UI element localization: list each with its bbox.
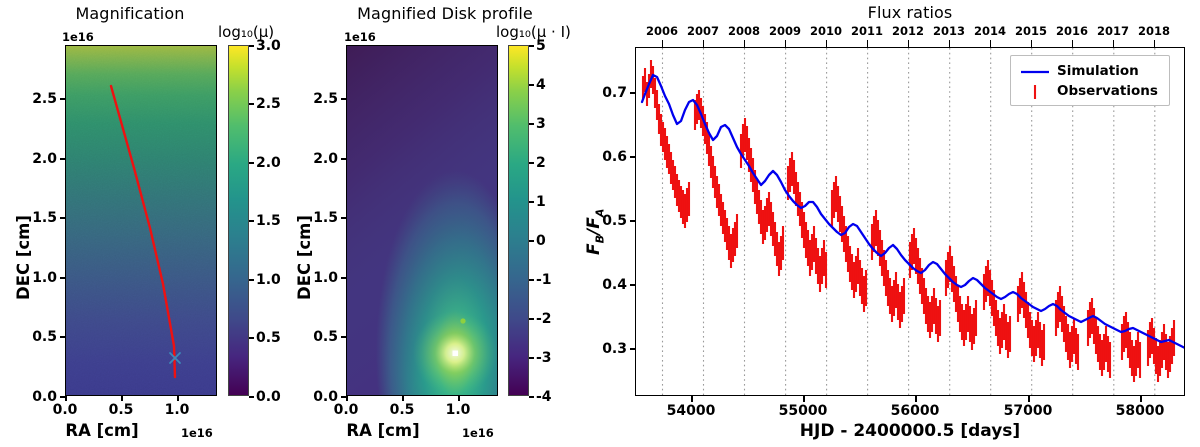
magnification-xlabel: RA [cm] [32,421,172,440]
flux-ratios-ylabel-wrap: FB/FA [584,255,630,277]
flux-xtick: 56000 [880,403,950,419]
cbar-tick: 0.0 [256,389,281,405]
disk-profile-colorbar [508,45,529,396]
disk-ytick: 2.5 [301,91,338,107]
cbar-tick: 0.5 [256,330,281,346]
flux-ytick: 0.3 [590,341,627,357]
magnification-colorbar [228,45,249,396]
magnification-x-offset: 1e16 [181,426,213,440]
flux-ytick: 0.4 [590,277,627,293]
flux-ytick: 0.6 [590,149,627,165]
top-tick-year: 2009 [765,24,805,38]
magnification-ytick: 0.5 [20,329,57,345]
flux-ratios-legend[interactable]: Simulation Observations [1010,55,1170,106]
top-tick-year: 2016 [1052,24,1092,38]
cbar-tick: -2 [536,311,552,327]
top-tick-year: 2014 [970,24,1010,38]
magnification-map [66,46,217,396]
cbar-tick: 2 [536,155,546,171]
disk-profile-xlabel: RA [cm] [313,421,453,440]
disk-profile-title: Magnified Disk profile [320,4,570,23]
disk-xtick: 1.0 [438,402,478,418]
magnification-title: Magnification [20,4,240,23]
cbar-tick: 1.0 [256,272,281,288]
figure-canvas: Magnification 1e16 DEC [cm] [0,0,1200,447]
flux-ytick: 0.7 [590,85,627,101]
top-tick-year: 2008 [724,24,764,38]
cbar-tick: 5 [536,38,546,54]
magnification-ytick: 2.5 [20,91,57,107]
disk-profile-ylabel: DEC [cm] [295,215,314,300]
cbar-tick: 3.0 [256,38,281,54]
legend-label-simulation: Simulation [1057,63,1139,79]
cbar-tick: 0 [536,233,546,249]
cbar-tick: 2.0 [256,155,281,171]
disk-source-spot [453,351,459,357]
top-tick-year: 2011 [847,24,887,38]
disk-profile-map [347,46,498,396]
magnification-xtick: 1.0 [157,402,197,418]
cbar-tick: 2.5 [256,96,281,112]
magnification-ytick: 1.0 [20,270,57,286]
panel-flux-ratios: Flux ratios FB/FA [570,0,1200,447]
flux-ratios-xlabel: HJD - 2400000.5 [days] [635,421,1185,441]
disk-xtick: 0.0 [326,402,366,418]
cbar-tick: -3 [536,350,552,366]
flux-xtick: 57000 [993,403,1063,419]
disk-secondary-spot [460,318,465,323]
magnification-ytick: 2.0 [20,151,57,167]
top-tick-year: 2015 [1011,24,1051,38]
top-tick-year: 2012 [888,24,928,38]
ylabel-slash: / [584,229,604,235]
cbar-tick: 1.5 [256,213,281,229]
magnification-y-offset: 1e16 [62,30,94,44]
disk-ytick: 0.5 [301,329,338,345]
disk-profile-colorbar-label: log₁₀(μ · I) [496,23,571,41]
flux-ratios-title: Flux ratios [635,3,1185,22]
legend-entry-observations[interactable]: Observations [1017,81,1167,101]
legend-entry-simulation[interactable]: Simulation [1017,61,1167,81]
disk-profile-x-offset: 1e16 [462,426,494,440]
ylabel-num-sub: B [593,235,606,243]
panel-magnification: Magnification 1e16 DEC [cm] [0,0,320,447]
cbar-tick: 1 [536,194,546,210]
magnification-plot-area [65,45,217,396]
top-tick-year: 2018 [1134,24,1174,38]
magnification-xtick: 0.5 [101,402,141,418]
magnification-ylabel: DEC [cm] [14,215,33,300]
cbar-tick: -1 [536,272,552,288]
magnification-xtick: 0.0 [45,402,85,418]
top-tick-year: 2010 [806,24,846,38]
disk-ytick: 1.5 [301,210,338,226]
disk-xtick: 0.5 [382,402,422,418]
disk-ytick: 2.0 [301,151,338,167]
legend-label-observations: Observations [1057,83,1158,99]
top-tick-year: 2017 [1093,24,1133,38]
top-tick-year: 2006 [642,24,682,38]
cbar-tick: -4 [536,389,552,405]
flux-ytick: 0.5 [590,213,627,229]
flux-xtick: 58000 [1105,403,1175,419]
top-tick-year: 2013 [929,24,969,38]
disk-profile-y-offset: 1e16 [344,30,376,44]
flux-xtick: 54000 [656,403,726,419]
top-tick-year: 2007 [683,24,723,38]
disk-ytick: 1.0 [301,270,338,286]
disk-profile-plot-area [346,45,498,396]
ylabel-num: F [584,243,604,255]
cbar-tick: 3 [536,116,546,132]
cbar-tick: 4 [536,77,546,93]
magnification-ytick: 1.5 [20,210,57,226]
legend-line-icon [1020,64,1050,80]
flux-xtick: 55000 [768,403,838,419]
legend-errorbar-icon [1020,83,1050,101]
